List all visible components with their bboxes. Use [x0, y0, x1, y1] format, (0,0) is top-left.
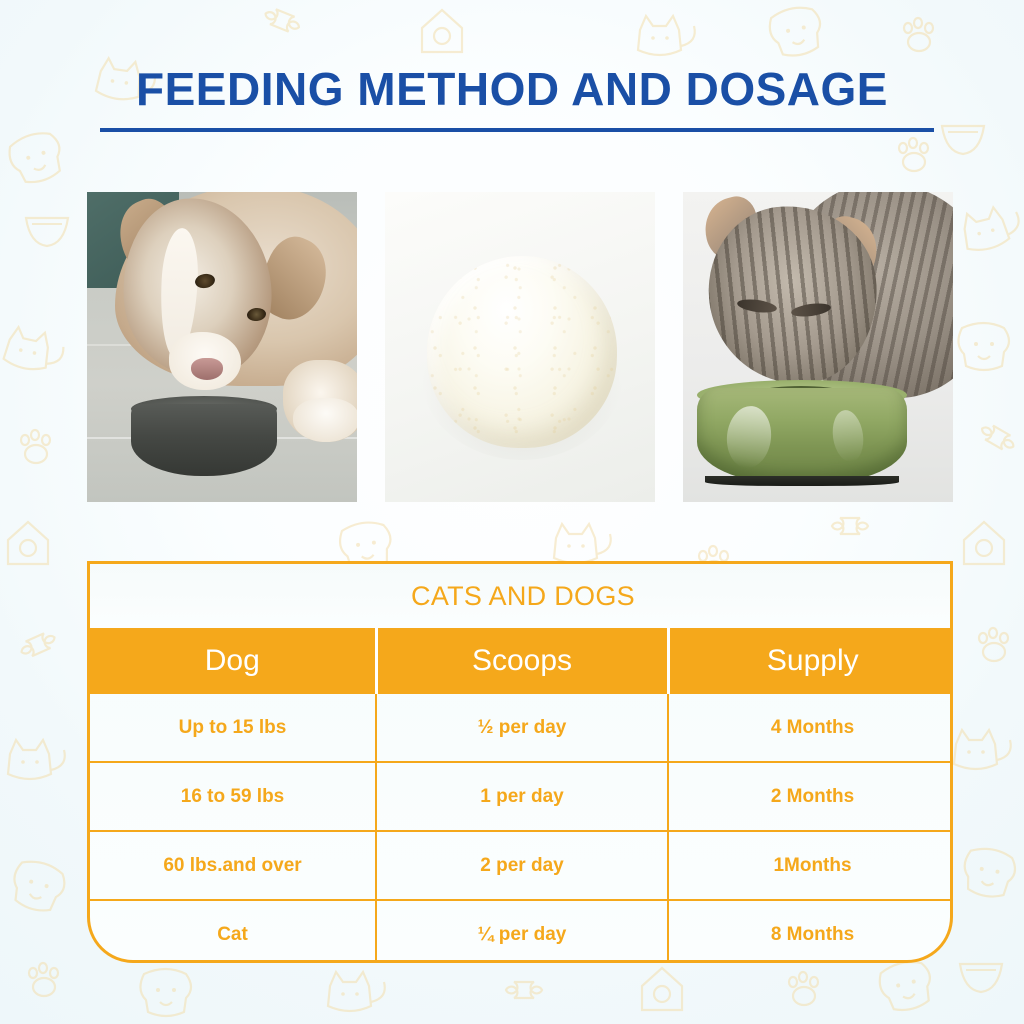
cell-supply: 4 Months [668, 694, 953, 762]
cell-supply: 1Months [668, 831, 953, 900]
page-title: FEEDING METHOD AND DOSAGE [0, 66, 1024, 112]
cell-scoops: 1 per day [376, 762, 668, 831]
title-block: FEEDING METHOD AND DOSAGE [0, 66, 1024, 112]
table-row: Cat ¼ per day 8 Months [90, 900, 953, 963]
supplement-powder-photo [385, 192, 655, 502]
table-caption: CATS AND DOGS [90, 564, 953, 628]
dosage-table-grid: CATS AND DOGS Dog Scoops Supply Up to 15… [90, 564, 953, 963]
cell-supply: 8 Months [668, 900, 953, 963]
cell-weight: 60 lbs.and over [90, 831, 376, 900]
cell-weight: 16 to 59 lbs [90, 762, 376, 831]
cell-weight: Cat [90, 900, 376, 963]
table-row: Up to 15 lbs ½ per day 4 Months [90, 694, 953, 762]
column-header-dog: Dog [90, 628, 376, 694]
photo-strip [87, 192, 953, 502]
column-header-supply: Supply [668, 628, 953, 694]
table-caption-row: CATS AND DOGS [90, 564, 953, 628]
cell-scoops: 2 per day [376, 831, 668, 900]
table-header-row: Dog Scoops Supply [90, 628, 953, 694]
cell-supply: 2 Months [668, 762, 953, 831]
cat-eating-kibble-photo [683, 192, 953, 502]
column-header-scoops: Scoops [376, 628, 668, 694]
title-underline [100, 128, 934, 132]
dog-eating-kibble-photo [87, 192, 357, 502]
table-row: 60 lbs.and over 2 per day 1Months [90, 831, 953, 900]
cell-scoops: ½ per day [376, 694, 668, 762]
cell-weight: Up to 15 lbs [90, 694, 376, 762]
cell-scoops: ¼ per day [376, 900, 668, 963]
dosage-table: CATS AND DOGS Dog Scoops Supply Up to 15… [87, 561, 953, 963]
table-row: 16 to 59 lbs 1 per day 2 Months [90, 762, 953, 831]
